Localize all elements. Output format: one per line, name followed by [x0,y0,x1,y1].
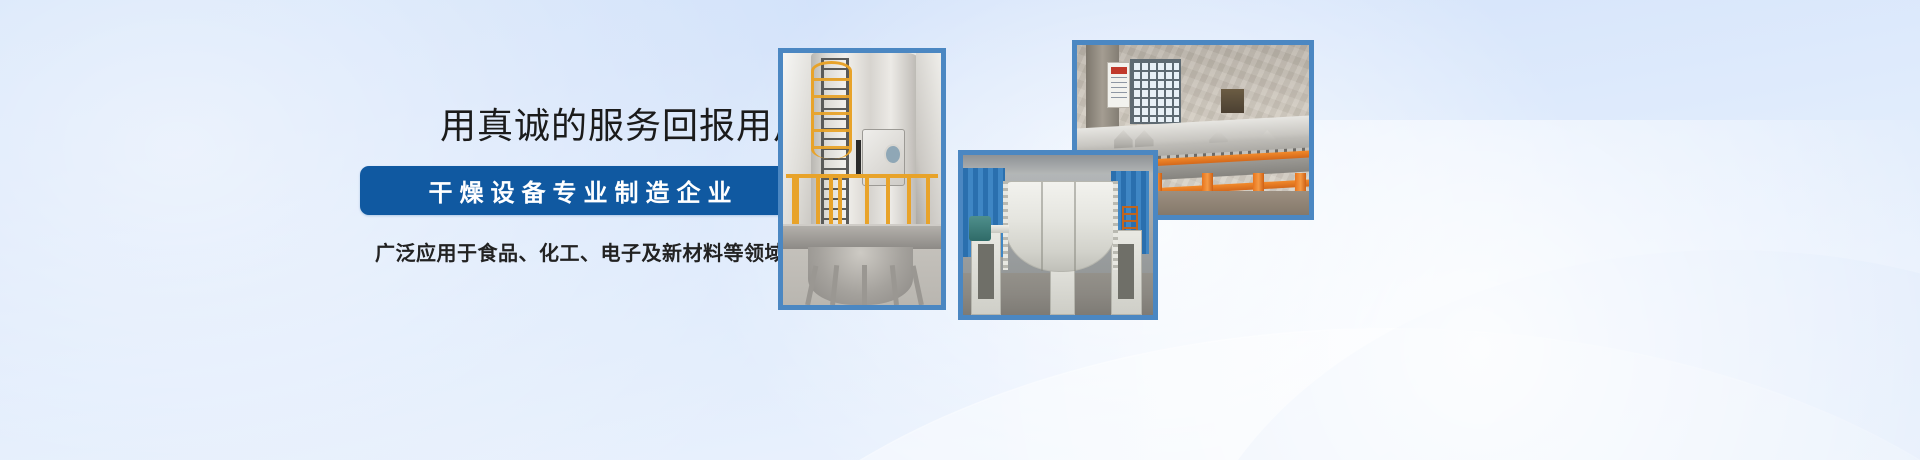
hero-banner: 用真诚的服务回报用户 干燥设备专业制造企业 广泛应用于食品、化工、电子及新材料等… [0,0,1920,460]
workshop-control-box [1221,89,1244,113]
tower-support-leg [830,265,839,305]
tower-railing-post [838,174,842,229]
tower-support-leg [911,265,924,305]
background-swoosh-arc [640,330,1920,460]
tower-platform-deck [783,224,941,249]
tower-railing-post [816,174,820,229]
photo-ribbon-mixer-image [963,155,1153,315]
banner-ribbon-label: 干燥设备专业制造企业 [422,173,739,208]
tower-railing-post [886,174,890,229]
banner-subline: 广泛应用于食品、化工、电子及新材料等领域 [360,237,800,266]
workshop-window [1130,59,1180,124]
tower-railing-post [926,174,930,229]
photo-spray-dryer-tower-image [783,53,941,305]
tower-support-legs [783,265,941,305]
mixer-drive-shaft [990,225,1009,233]
tower-platform-railing-posts [786,174,938,229]
workshop-notice-board [1107,62,1130,108]
banner-ribbon: 干燥设备专业制造企业 [360,166,800,215]
tower-support-leg [889,265,898,305]
mixer-drum-shell [1005,181,1117,273]
tower-railing-post [865,174,869,229]
mixer-gear-motor [969,216,992,242]
mixer-drum-seam-1 [1041,182,1043,272]
mixer-support-stand-left [971,230,1002,315]
tower-railing-post [795,174,799,229]
photo-spray-dryer-tower [778,48,946,310]
tower-support-leg [805,265,818,305]
tower-railing-post [907,174,911,229]
mixer-drum-seam-2 [1074,182,1076,272]
tower-ladder-safety-cage [811,61,852,160]
photo-ribbon-mixer [958,150,1158,320]
background-swoosh-arc-secondary [1180,250,1920,460]
tower-support-leg [862,265,867,305]
mixer-end-flange-right [1113,181,1118,271]
